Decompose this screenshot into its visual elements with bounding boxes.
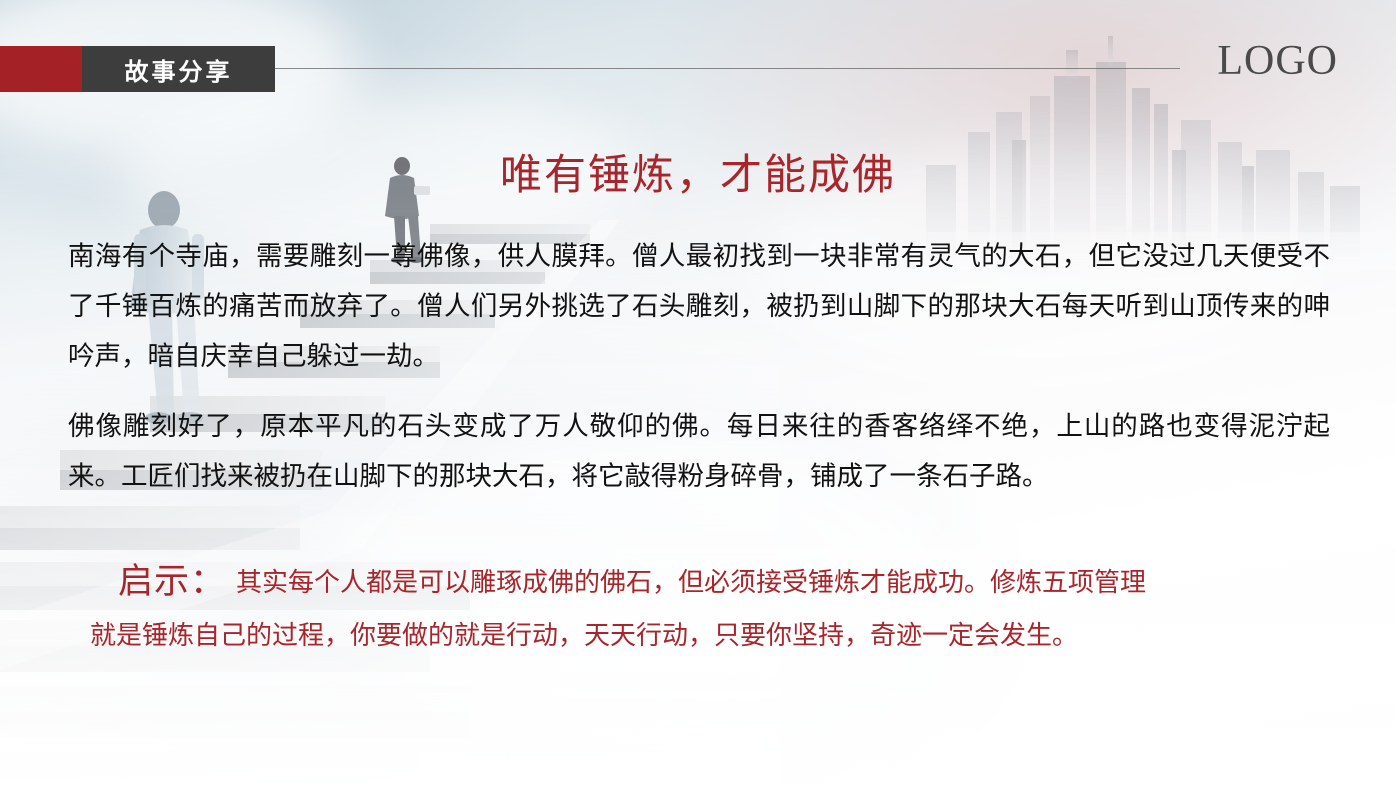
page-title: 唯有锤炼，才能成佛 xyxy=(0,141,1396,202)
slide-canvas: 故事分享 LOGO 唯有锤炼，才能成佛 南海有个寺庙，需要雕刻一尊佛像，供人膜拜… xyxy=(0,0,1396,786)
section-tag: 故事分享 xyxy=(82,46,275,92)
section-tag-label: 故事分享 xyxy=(125,52,233,87)
story-paragraph-2: 佛像雕刻好了，原本平凡的石头变成了万人敬仰的佛。每日来往的香客络绎不绝，上山的路… xyxy=(68,402,1330,502)
revelation-text-1: 其实每个人都是可以雕琢成佛的佛石，但必须接受锤炼才能成功。修炼五项管理 xyxy=(236,568,1146,598)
header-accent-block xyxy=(0,46,82,92)
header-divider-line xyxy=(275,68,1180,69)
story-body: 南海有个寺庙，需要雕刻一尊佛像，供人膜拜。僧人最初找到一块非常有灵气的大石，但它… xyxy=(68,232,1330,522)
revelation-label: 启示： xyxy=(118,562,226,602)
revelation-line-2: 就是锤炼自己的过程，你要做的就是行动，天天行动，只要你坚持，奇迹一定会发生。 xyxy=(68,610,1330,663)
story-paragraph-1: 南海有个寺庙，需要雕刻一尊佛像，供人膜拜。僧人最初找到一块非常有灵气的大石，但它… xyxy=(68,232,1330,382)
revelation-line-1: 启示：其实每个人都是可以雕琢成佛的佛石，但必须接受锤炼才能成功。修炼五项管理 xyxy=(68,556,1330,610)
logo-text: LOGO xyxy=(1217,40,1338,82)
revelation-block: 启示：其实每个人都是可以雕琢成佛的佛石，但必须接受锤炼才能成功。修炼五项管理 就… xyxy=(68,556,1330,663)
